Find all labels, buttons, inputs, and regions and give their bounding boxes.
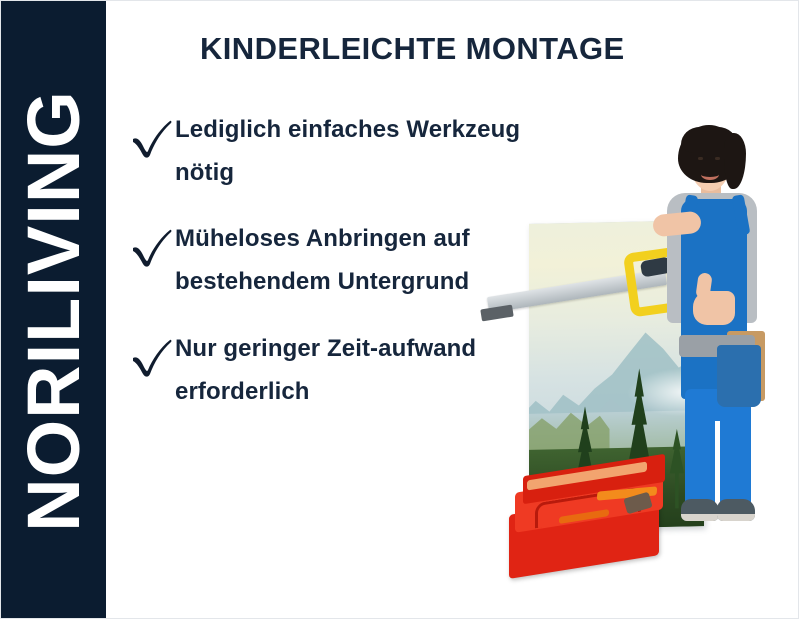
- saw-blade-tip: [480, 305, 513, 322]
- worker-shoe: [717, 499, 755, 521]
- worker-hand: [693, 291, 735, 325]
- list-item: Müheloses Anbringen auf bestehendem Unte…: [129, 218, 529, 303]
- worker-trouser-gap: [715, 421, 720, 513]
- check-mark-icon: [129, 334, 175, 378]
- worker-eye: [698, 157, 703, 160]
- worker-tool-pouch: [717, 345, 761, 407]
- feature-list: Lediglich einfaches Werkzeug nötig Mühel…: [129, 109, 529, 437]
- list-item: Lediglich einfaches Werkzeug nötig: [129, 109, 529, 194]
- page-title: KINDERLEICHTE MONTAGE: [200, 31, 625, 67]
- worker-hair-side: [724, 133, 746, 189]
- check-mark-icon: [129, 224, 175, 268]
- worker-eye: [715, 157, 720, 160]
- product-photo: [481, 121, 799, 619]
- poster-canvas: NORILIVING KINDERLEICHTE MONTAGE Ledigli…: [0, 0, 799, 619]
- toolbox: [501, 451, 691, 581]
- brand-name: NORILIVING: [17, 90, 91, 532]
- list-item-label: Lediglich einfaches Werkzeug nötig: [175, 109, 529, 194]
- list-item-label: Müheloses Anbringen auf bestehendem Unte…: [175, 218, 529, 303]
- check-mark-icon: [129, 115, 175, 159]
- worker-smile: [701, 169, 719, 180]
- worker-shoe: [681, 499, 719, 521]
- list-item-label: Nur geringer Zeit-aufwand erforderlich: [175, 328, 529, 413]
- brand-sidebar: NORILIVING: [1, 1, 106, 619]
- list-item: Nur geringer Zeit-aufwand erforderlich: [129, 328, 529, 413]
